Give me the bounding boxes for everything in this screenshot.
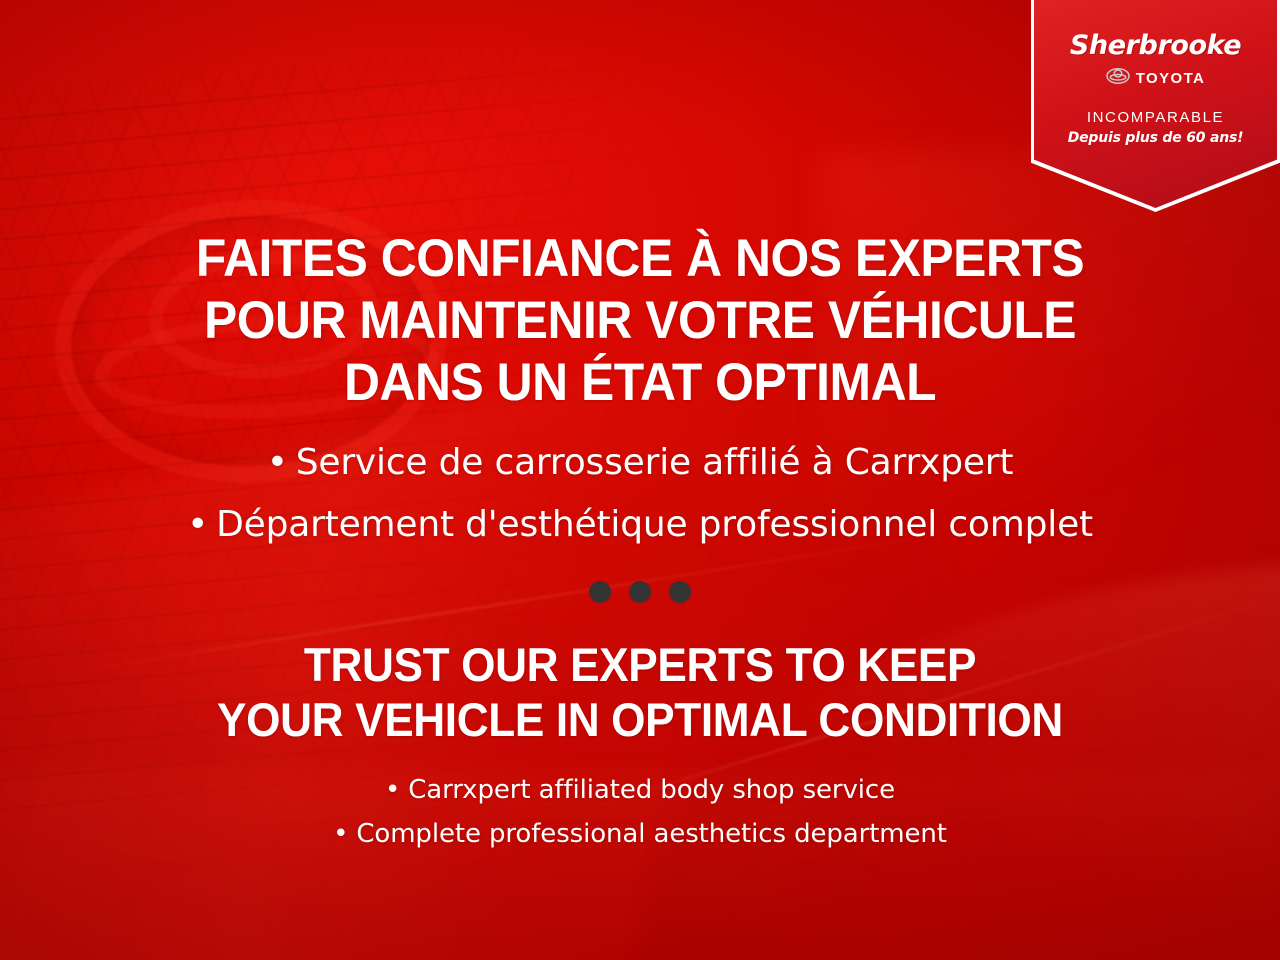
list-item-label: Service de carrosserie affilié à Carrxpe… <box>296 442 1014 483</box>
headline-french-line-3: DANS UN ÉTAT OPTIMAL <box>38 352 1241 414</box>
bullet-list-french: •Service de carrosserie affilié à Carrxp… <box>0 432 1280 556</box>
headline-english-line-1: TRUST OUR EXPERTS TO KEEP <box>38 637 1241 692</box>
headline-english: TRUST OUR EXPERTS TO KEEP YOUR VEHICLE I… <box>38 637 1241 747</box>
list-item-label: Complete professional aesthetics departm… <box>356 819 947 849</box>
bullet-marker-icon: • <box>187 504 208 545</box>
banner-content: FAITES CONFIANCE À NOS EXPERTS POUR MAIN… <box>0 0 1280 960</box>
list-item: •Service de carrosserie affilié à Carrxp… <box>0 432 1280 494</box>
headline-french: FAITES CONFIANCE À NOS EXPERTS POUR MAIN… <box>38 228 1241 414</box>
section-divider <box>0 581 1280 603</box>
list-item: •Carrxpert affiliated body shop service <box>0 768 1280 812</box>
list-item-label: Département d'esthétique professionnel c… <box>216 504 1093 545</box>
bullet-marker-icon: • <box>333 819 348 849</box>
list-item: •Département d'esthétique professionnel … <box>0 494 1280 556</box>
headline-french-line-1: FAITES CONFIANCE À NOS EXPERTS <box>38 228 1241 290</box>
promo-banner: Sherbrooke TOYOTA INCOMPARABLE Depuis pl… <box>0 0 1280 960</box>
list-item-label: Carrxpert affiliated body shop service <box>408 775 895 805</box>
bullet-marker-icon: • <box>385 775 400 805</box>
headline-french-line-2: POUR MAINTENIR VOTRE VÉHICULE <box>38 290 1241 352</box>
list-item: •Complete professional aesthetics depart… <box>0 812 1280 856</box>
bullet-list-english: •Carrxpert affiliated body shop service … <box>0 768 1280 856</box>
divider-dot-icon <box>589 581 611 603</box>
headline-english-line-2: YOUR VEHICLE IN OPTIMAL CONDITION <box>38 692 1241 747</box>
divider-dot-icon <box>669 581 691 603</box>
divider-dot-icon <box>629 581 651 603</box>
bullet-marker-icon: • <box>267 442 288 483</box>
